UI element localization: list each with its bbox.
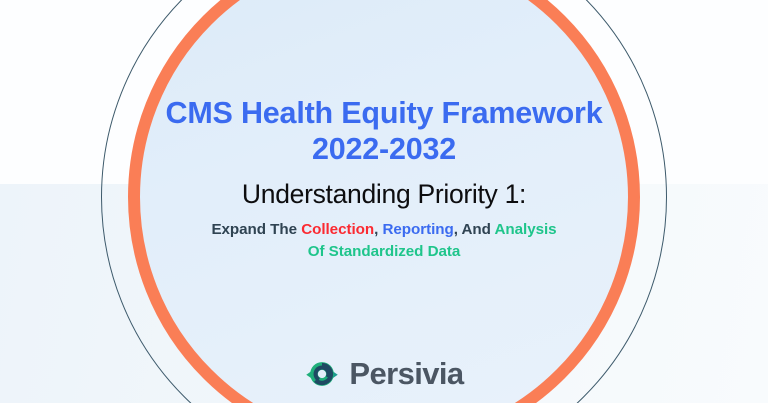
title-line-1: CMS Health Equity Framework <box>166 97 603 130</box>
slide-content: CMS Health Equity Framework 2022-2032 Un… <box>0 0 768 403</box>
tagline-text-and: And <box>462 221 495 238</box>
page-title: CMS Health Equity Framework 2022-2032 <box>166 97 603 166</box>
tagline-word-collection: Collection <box>301 221 374 238</box>
persivia-logo: Persivia <box>0 356 768 392</box>
slide-canvas: CMS Health Equity Framework 2022-2032 Un… <box>0 0 768 403</box>
tagline-separator-2: , <box>454 221 462 238</box>
persivia-eye-swirl-icon <box>304 356 340 392</box>
tagline-word-analysis: Analysis <box>494 221 556 238</box>
subtitle: Understanding Priority 1: <box>242 179 526 210</box>
tagline-line-2: Of Standardized Data <box>211 241 556 263</box>
tagline-text-expand-the: Expand The <box>211 221 301 238</box>
title-line-2: 2022-2032 <box>166 133 603 166</box>
persivia-wordmark: Persivia <box>349 358 463 391</box>
tagline-word-reporting: Reporting <box>382 221 453 238</box>
tagline: Expand The Collection, Reporting, And An… <box>211 219 556 263</box>
